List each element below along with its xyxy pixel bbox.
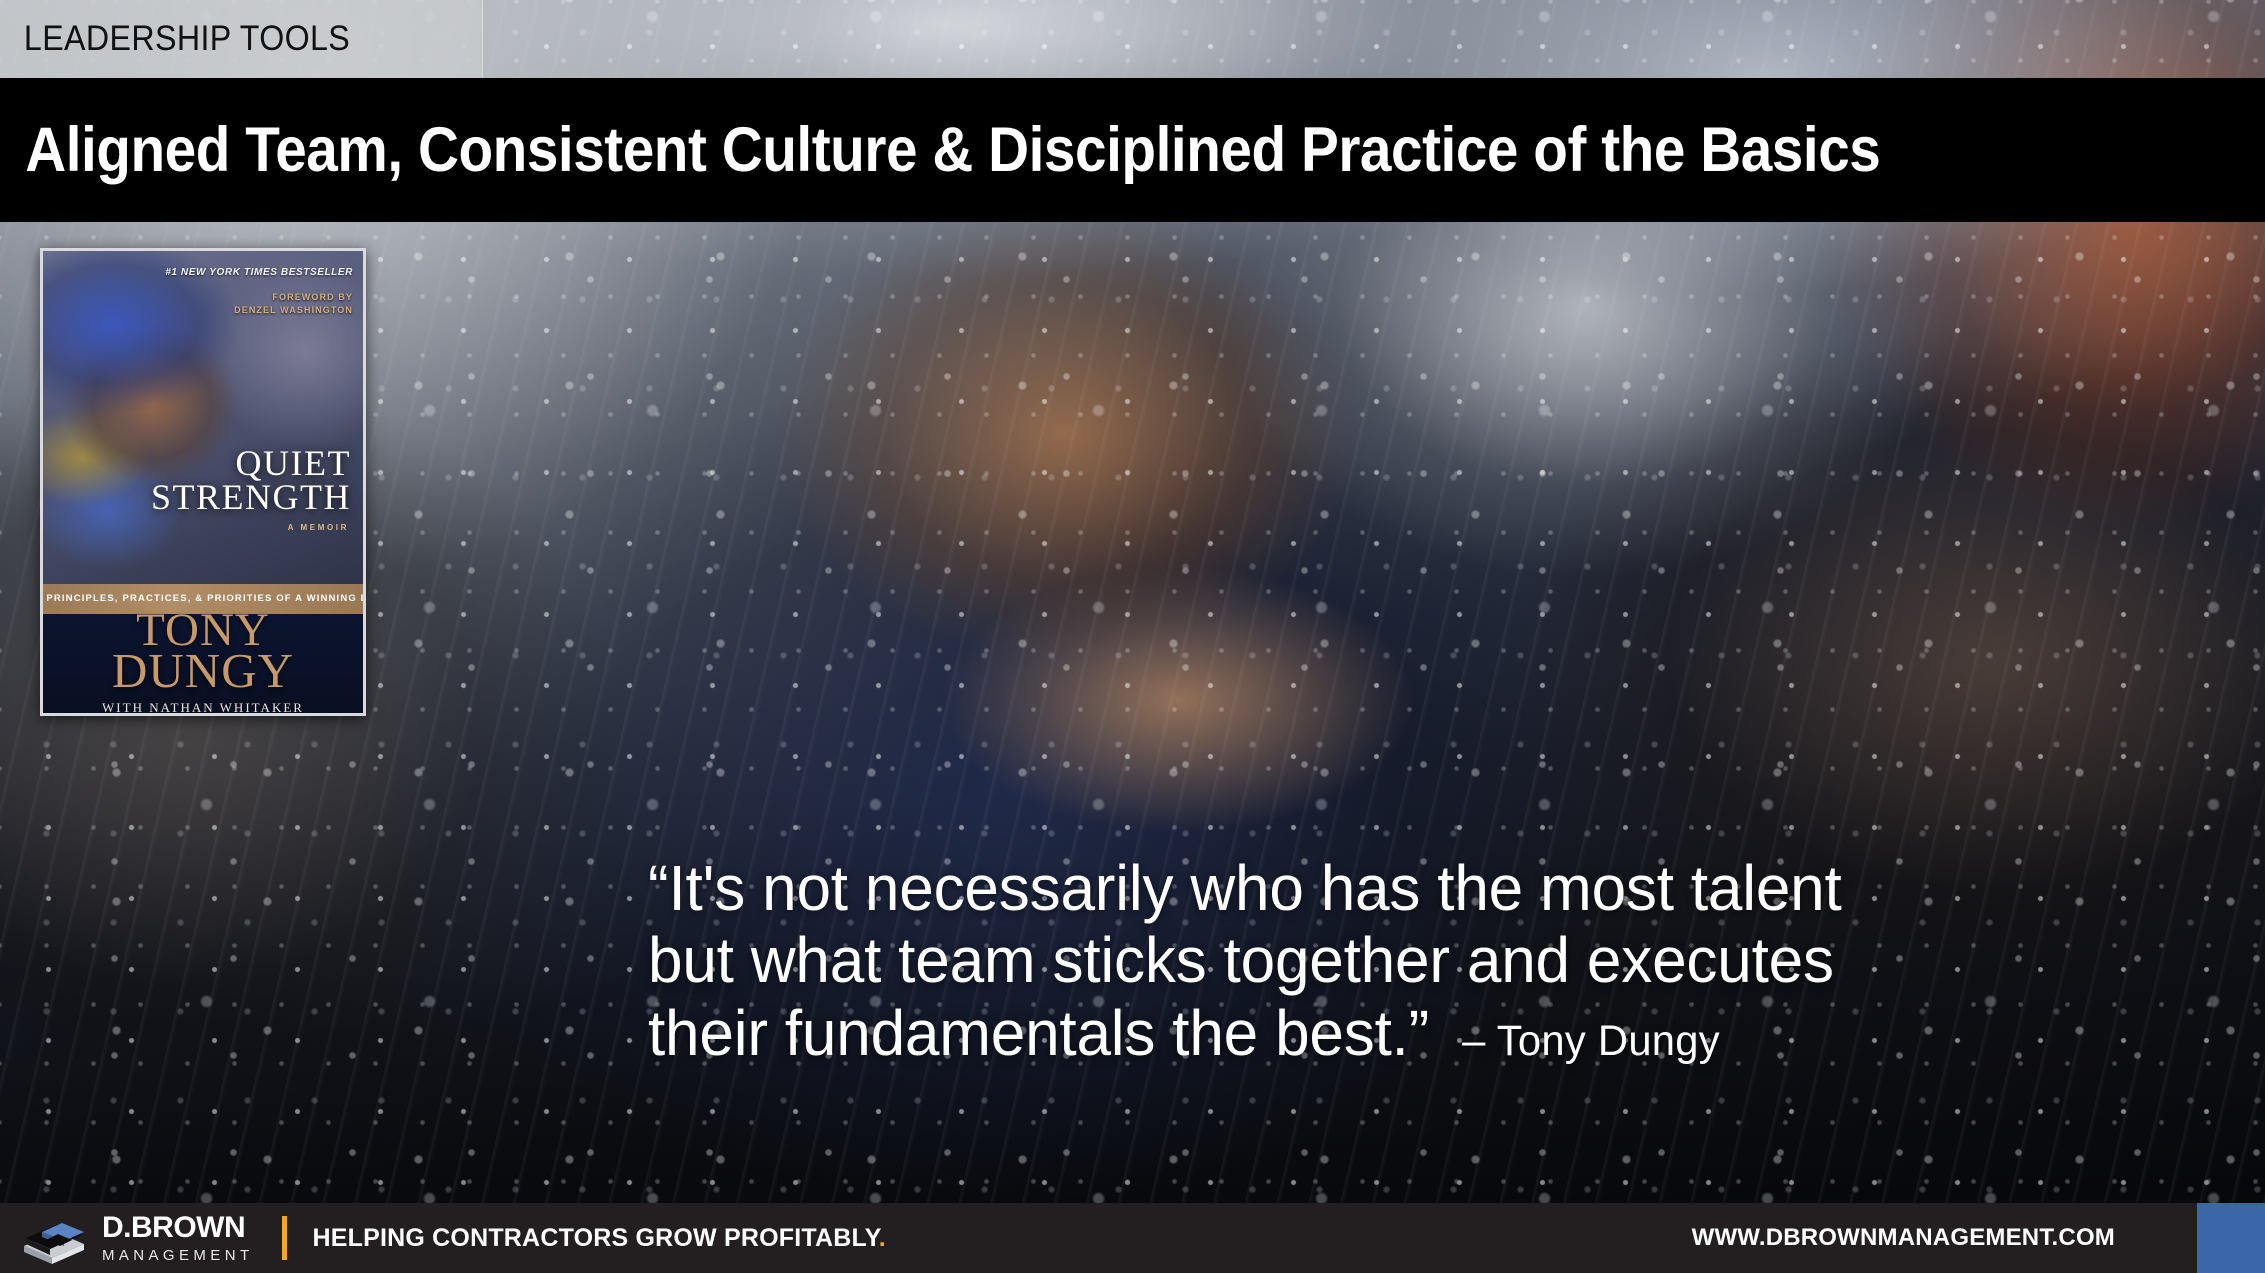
footer-tagline: HELPING CONTRACTORS GROW PROFITABLY.: [313, 1224, 886, 1253]
book-title-line1: QUIET: [151, 447, 351, 481]
footer-tagline-text: HELPING CONTRACTORS GROW PROFITABLY: [313, 1224, 879, 1252]
dbrown-cube-logo-icon[interactable]: [20, 1212, 88, 1264]
book-author-name: TONY DUNGY: [112, 611, 294, 692]
dbrown-wordmark[interactable]: D.BROWN MANAGEMENT: [102, 1213, 254, 1263]
footer-accent-swatch: [2197, 1203, 2265, 1273]
book-foreword-line2: DENZEL WASHINGTON: [234, 304, 353, 317]
eyebrow-label: LEADERSHIP TOOLS: [0, 19, 350, 59]
book-title: QUIET STRENGTH: [151, 447, 351, 515]
footer-bar: D.BROWN MANAGEMENT HELPING CONTRACTORS G…: [0, 1203, 2265, 1273]
brand-name: D.BROWN: [102, 1213, 254, 1243]
book-foreword-block: FOREWORD BY DENZEL WASHINGTON: [234, 291, 353, 317]
brand-subtitle: MANAGEMENT: [102, 1248, 254, 1263]
pull-quote: “It's not necessarily who has the most t…: [648, 852, 2161, 1069]
quote-line-3: their fundamentals the best.”– Tony Dung…: [648, 997, 2161, 1069]
quote-line-2: but what team sticks together and execut…: [648, 924, 2161, 996]
page-title: Aligned Team, Consistent Culture & Disci…: [0, 114, 1880, 186]
slide-root: LEADERSHIP TOOLS Aligned Team, Consisten…: [0, 0, 2265, 1273]
quote-line-3-text: their fundamentals the best.”: [648, 997, 1429, 1069]
footer-divider: [282, 1216, 287, 1260]
book-author-block: TONY DUNGY WITH NATHAN WHITAKER: [43, 614, 363, 713]
title-bar: Aligned Team, Consistent Culture & Disci…: [0, 78, 2265, 222]
eyebrow-bar: LEADERSHIP TOOLS: [0, 0, 483, 78]
quote-attribution: – Tony Dungy: [1429, 1017, 1720, 1065]
book-subtitle-memoir: A MEMOIR: [288, 523, 349, 532]
book-band-text: THE PRINCIPLES, PRACTICES, & PRIORITIES …: [40, 593, 366, 604]
footer-tagline-dot: .: [879, 1224, 886, 1252]
quote-line-1: “It's not necessarily who has the most t…: [648, 852, 2161, 924]
footer-website-link[interactable]: WWW.DBROWNMANAGEMENT.COM: [1692, 1224, 2115, 1252]
book-title-line2: STRENGTH: [151, 481, 351, 515]
book-cover-quiet-strength[interactable]: #1 NEW YORK TIMES BESTSELLER FOREWORD BY…: [40, 248, 366, 716]
book-foreword-line1: FOREWORD BY: [234, 291, 353, 304]
book-coauthor: WITH NATHAN WHITAKER: [102, 700, 304, 716]
book-bestseller-badge: #1 NEW YORK TIMES BESTSELLER: [165, 267, 353, 278]
book-author-line2: DUNGY: [112, 650, 294, 691]
